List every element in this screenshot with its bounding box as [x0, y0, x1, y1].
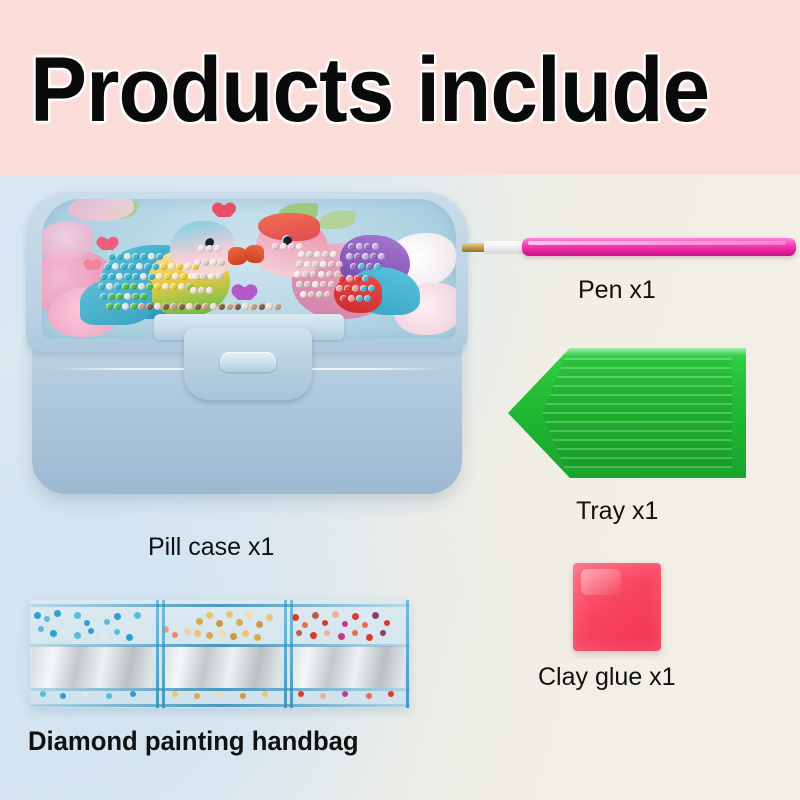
zip-seam: [290, 600, 293, 708]
pill-case-image: [24, 192, 472, 504]
bead-row: [348, 243, 379, 250]
bead-row: [336, 285, 375, 292]
drill-cluster-blue: [30, 606, 158, 646]
clay-glue-image: [573, 563, 661, 651]
bead-row: [198, 245, 221, 252]
handbag-compartment-red: [286, 600, 410, 708]
bead-row: [298, 251, 337, 258]
zip-band-top: [30, 604, 410, 607]
handbag-image: [30, 600, 410, 708]
bead-row: [104, 263, 167, 270]
handbag-compartment-gold: [158, 600, 286, 708]
drill-cluster-gold: [158, 606, 286, 646]
bead-row-branch: [138, 303, 281, 310]
bead-row: [108, 253, 163, 260]
pen-ferrule: [484, 241, 526, 254]
clay-glue-label: Clay glue x1: [538, 663, 676, 692]
bead-row: [194, 259, 225, 266]
zip-seam: [156, 600, 159, 708]
bead-row: [272, 243, 303, 250]
drill-cluster-red: [286, 606, 410, 646]
foil-strip: [160, 646, 280, 688]
tray-label: Tray x1: [576, 497, 658, 526]
bead-row: [192, 273, 223, 280]
heart: [218, 205, 230, 217]
bead-row: [296, 261, 343, 268]
page-title: Products include: [30, 42, 723, 138]
zip-seam: [162, 600, 165, 708]
foil-strip: [32, 646, 152, 688]
bead-row: [294, 271, 341, 278]
bead-row: [350, 263, 381, 270]
zip-seam: [406, 600, 409, 708]
bead-row: [300, 291, 331, 298]
clay-glue-highlight: [581, 569, 621, 595]
bead-row: [340, 295, 371, 302]
zip-band-bottom: [30, 704, 410, 707]
pen-barrel: [522, 238, 796, 256]
handbag-compartment-blue: [30, 600, 158, 708]
bead-row: [100, 293, 147, 300]
pill-case-label: Pill case x1: [148, 533, 274, 562]
pill-case-latch[interactable]: [184, 328, 312, 400]
zip-band-lower: [30, 688, 410, 691]
bead-row: [296, 281, 335, 288]
header-band: Products include: [0, 0, 800, 175]
zip-seam: [284, 600, 287, 708]
bead-row: [190, 287, 213, 294]
bead-row: [154, 283, 193, 290]
bead-row: [100, 273, 163, 280]
bird-right-beak: [244, 245, 264, 263]
pen-image: [462, 236, 798, 260]
pen-highlight: [528, 241, 786, 245]
zip-band-mid: [30, 644, 410, 647]
pill-case-latch-button[interactable]: [220, 352, 276, 372]
product-infographic: Products include: [0, 0, 800, 800]
bead-row: [98, 283, 153, 290]
tray-grooves: [542, 358, 732, 468]
handbag-label: Diamond painting handbag: [28, 726, 359, 757]
pen-label: Pen x1: [578, 276, 656, 305]
pen-nib: [462, 243, 486, 252]
bead-row: [338, 275, 369, 282]
bead-row: [346, 253, 385, 260]
foil-strip: [288, 646, 404, 688]
